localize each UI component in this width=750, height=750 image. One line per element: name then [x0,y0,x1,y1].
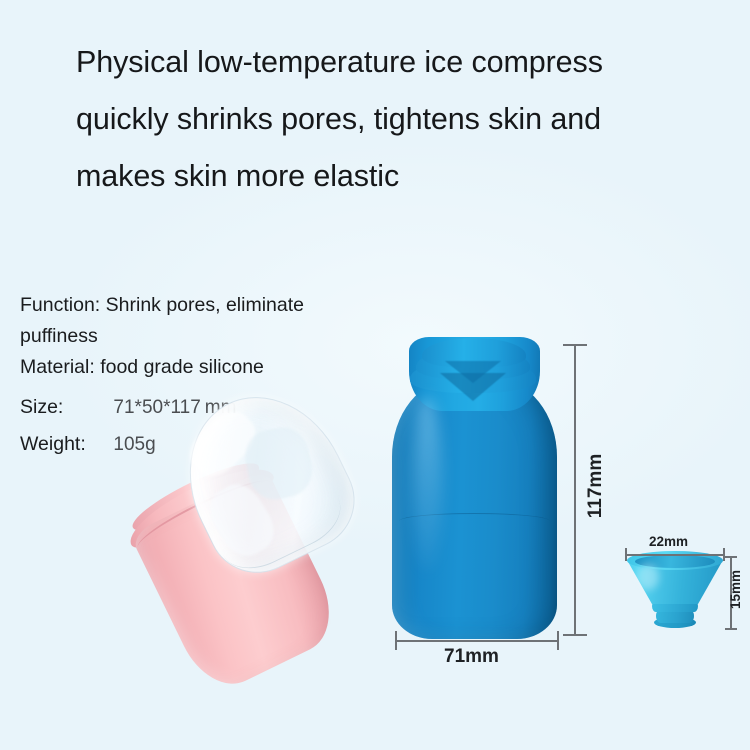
spec-weight-label: Weight: [20,429,104,460]
product-infographic: Physical low-temperature ice compress qu… [0,0,750,750]
dimension-cup-height: 15mm [726,552,750,634]
dimension-line [574,344,576,636]
dimension-tick-top [563,344,587,346]
dimension-roller-height: 117mm [560,340,606,640]
dimension-tick-bottom [725,628,737,630]
dimension-roller-width: 71mm [392,634,562,668]
silicone-suction-cup [627,556,723,628]
spec-function-continued: puffiness [20,321,420,352]
dimension-cup-width: 22mm [623,536,729,562]
dimension-label-cup-width: 22mm [649,534,688,549]
spec-function-value: Shrink pores, eliminate [106,294,304,316]
spec-material-value: food grade silicone [100,356,264,378]
dimension-line [395,640,559,642]
blue-ice-roller [392,337,557,639]
blue-roller-highlight [412,397,442,572]
spec-material: Material: food grade silicone [20,352,420,383]
dimension-line [625,554,725,556]
spec-size-label: Size: [20,392,104,423]
dimension-tick-bottom [563,634,587,636]
dimension-tick-left [395,631,397,650]
suction-cup-highlight [637,564,659,590]
dimension-tick-right [557,631,559,650]
spec-material-label: Material: [20,356,95,378]
dimension-label-roller-height: 117mm [585,454,607,518]
blue-roller-v-seam [445,361,501,383]
dimension-label-cup-height: 15mm [728,570,743,609]
dimension-tick-left [625,548,627,561]
spec-function: Function: Shrink pores, eliminate [20,290,420,321]
headline-text: Physical low-temperature ice compress qu… [76,34,696,205]
dimension-tick-top [725,556,737,558]
dimension-tick-right [723,548,725,561]
dimension-label-roller-width: 71mm [444,646,499,668]
spec-function-label: Function: [20,294,100,316]
spec-function-value-wrap: puffiness [20,325,98,347]
